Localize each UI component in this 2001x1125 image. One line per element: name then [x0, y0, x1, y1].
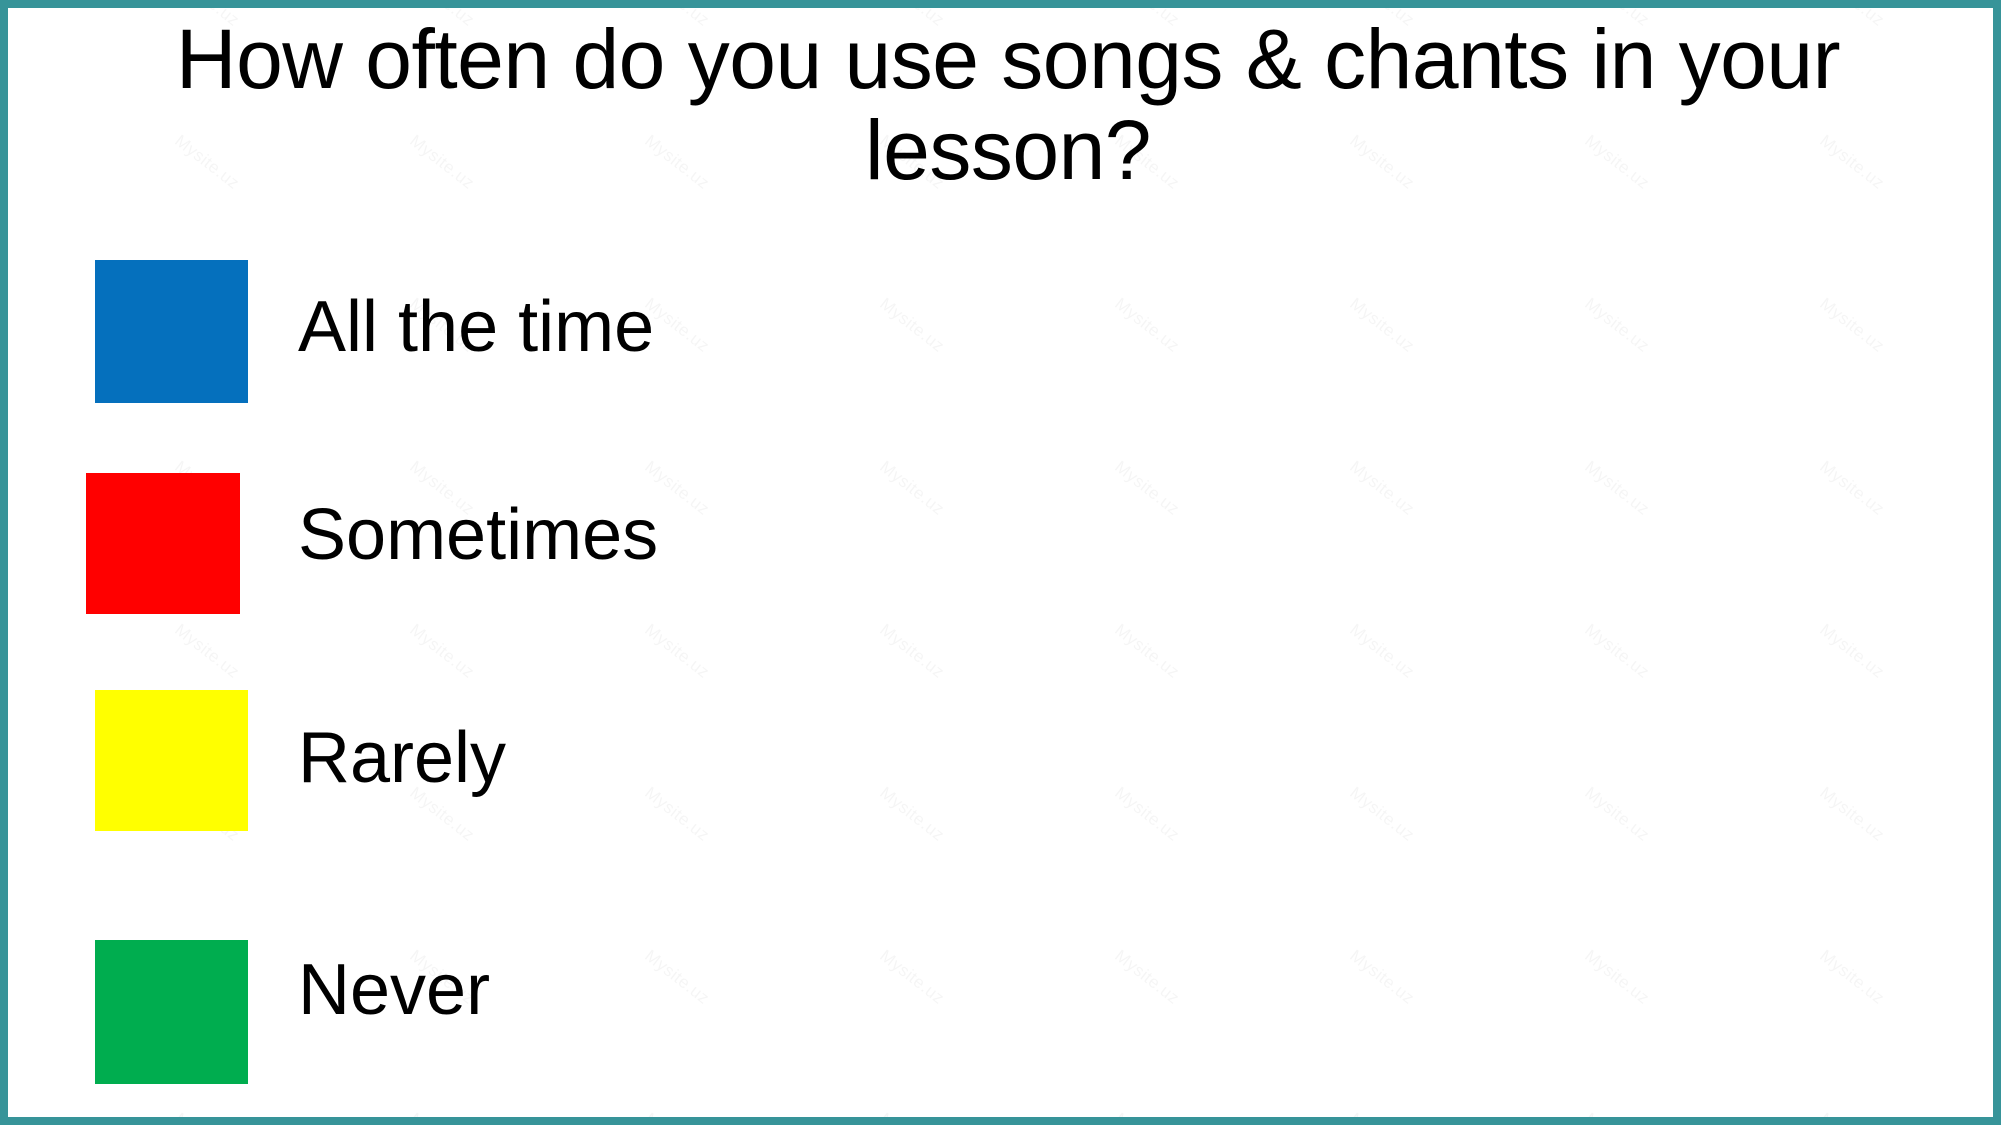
legend-swatch-yellow	[95, 690, 248, 831]
legend-label-all-the-time: All the time	[298, 291, 654, 363]
legend-swatch-red	[86, 473, 240, 614]
watermark-text: Mysite.uz	[0, 1109, 8, 1125]
watermark-text: Mysite.uz	[0, 457, 8, 520]
watermark-text: Mysite.uz	[0, 131, 8, 194]
legend-swatch-blue	[95, 260, 248, 403]
chart-legend: All the time Sometimes Rarely Never	[8, 8, 1993, 1117]
watermark-text: Mysite.uz	[0, 946, 8, 1009]
legend-label-sometimes: Sometimes	[298, 499, 658, 571]
legend-label-never: Never	[298, 954, 490, 1026]
watermark-text: Mysite.uz	[0, 620, 8, 683]
watermark-text: Mysite.uz	[0, 294, 8, 357]
slide-canvas: Mysite.uzMysite.uzMysite.uzMysite.uzMysi…	[0, 0, 2001, 1125]
legend-label-rarely: Rarely	[298, 722, 506, 794]
watermark-text: Mysite.uz	[0, 0, 8, 31]
legend-swatch-green	[95, 940, 248, 1084]
watermark-text: Mysite.uz	[0, 783, 8, 846]
